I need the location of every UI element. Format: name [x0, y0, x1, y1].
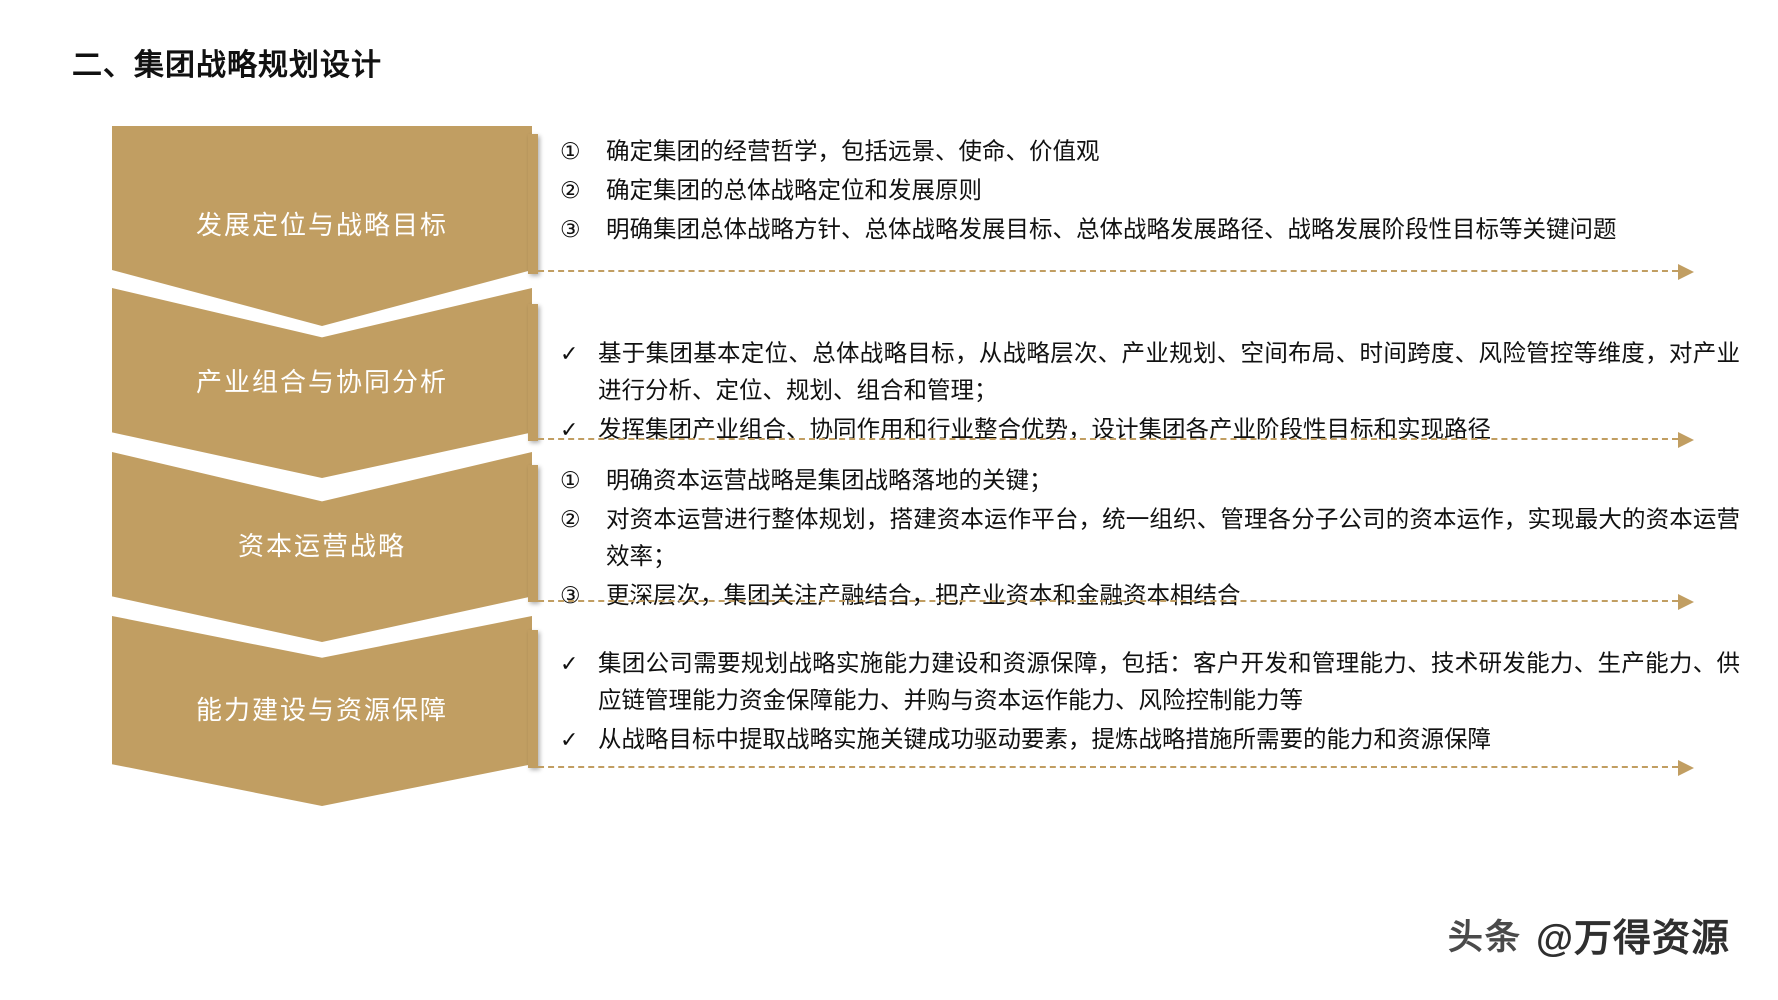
list-item: ② 对资本运营进行整体规划，搭建资本运作平台，统一组织、管理各分子公司的资本运作… [560, 501, 1740, 575]
accent-bar-4 [528, 630, 538, 768]
stage-divider-arrow-1 [528, 270, 1678, 274]
watermark-name: @万得资源 [1536, 907, 1730, 962]
stage-chevron-1[interactable]: 发展定位与战略目标 [112, 126, 532, 326]
bullet-text: 对资本运营进行整体规划，搭建资本运作平台，统一组织、管理各分子公司的资本运作，实… [606, 501, 1740, 575]
bullet-marker: ① [560, 462, 606, 499]
bullet-marker: ③ [560, 577, 606, 614]
bullet-marker: ② [560, 501, 606, 538]
bullet-text: 确定集团的总体战略定位和发展原则 [606, 172, 1740, 209]
stage-label-3: 资本运营战略 [238, 531, 406, 562]
list-item: ① 明确资本运营战略是集团战略落地的关键； [560, 462, 1740, 499]
check-icon: ✓ [560, 721, 598, 758]
stage-chevron-3[interactable]: 资本运营战略 [112, 452, 532, 642]
strategy-funnel-diagram: 发展定位与战略目标 ① 确定集团的经营哲学，包括远景、使命、价值观 ② 确定集团… [0, 0, 1778, 1000]
accent-bar-1 [528, 134, 538, 274]
list-item: ① 确定集团的经营哲学，包括远景、使命、价值观 [560, 133, 1740, 170]
stage-label-1: 发展定位与战略目标 [196, 210, 448, 241]
check-icon: ✓ [560, 411, 598, 448]
bullet-text: 明确集团总体战略方针、总体战略发展目标、总体战略发展路径、战略发展阶段性目标等关… [606, 211, 1740, 248]
accent-bar-3 [528, 465, 538, 602]
stage-bullets-1: ① 确定集团的经营哲学，包括远景、使命、价值观 ② 确定集团的总体战略定位和发展… [560, 133, 1740, 250]
stage-bullets-2: ✓ 基于集团基本定位、总体战略目标，从战略层次、产业规划、空间布局、时间跨度、风… [560, 335, 1740, 450]
list-item: ✓ 从战略目标中提取战略实施关键成功驱动要素，提炼战略措施所需要的能力和资源保障 [560, 721, 1740, 758]
bullet-text: 基于集团基本定位、总体战略目标，从战略层次、产业规划、空间布局、时间跨度、风险管… [598, 335, 1740, 409]
bullet-text: 明确资本运营战略是集团战略落地的关键； [606, 462, 1740, 499]
watermark: 头条 @万得资源 [1448, 907, 1730, 962]
stage-divider-arrow-3 [528, 600, 1678, 604]
bullet-marker: ② [560, 172, 606, 209]
bullet-text: 从战略目标中提取战略实施关键成功驱动要素，提炼战略措施所需要的能力和资源保障 [598, 721, 1740, 758]
list-item: ✓ 基于集团基本定位、总体战略目标，从战略层次、产业规划、空间布局、时间跨度、风… [560, 335, 1740, 409]
watermark-brand: 头条 [1448, 909, 1522, 960]
stage-label-4: 能力建设与资源保障 [196, 695, 448, 726]
stage-divider-arrow-4 [528, 766, 1678, 770]
list-item: ✓ 发挥集团产业组合、协同作用和行业整合优势，设计集团各产业阶段性目标和实现路径 [560, 411, 1740, 448]
bullet-text: 更深层次，集团关注产融结合，把产业资本和金融资本相结合 [606, 577, 1740, 614]
bullet-marker: ① [560, 133, 606, 170]
bullet-text: 集团公司需要规划战略实施能力建设和资源保障，包括：客户开发和管理能力、技术研发能… [598, 645, 1740, 719]
list-item: ② 确定集团的总体战略定位和发展原则 [560, 172, 1740, 209]
stage-label-2: 产业组合与协同分析 [196, 367, 448, 398]
bullet-text: 确定集团的经营哲学，包括远景、使命、价值观 [606, 133, 1740, 170]
stage-bullets-4: ✓ 集团公司需要规划战略实施能力建设和资源保障，包括：客户开发和管理能力、技术研… [560, 645, 1740, 760]
stage-chevron-4[interactable]: 能力建设与资源保障 [112, 616, 532, 806]
bullet-marker: ③ [560, 211, 606, 248]
check-icon: ✓ [560, 645, 598, 682]
accent-bar-2 [528, 304, 538, 441]
stage-bullets-3: ① 明确资本运营战略是集团战略落地的关键； ② 对资本运营进行整体规划，搭建资本… [560, 462, 1740, 616]
list-item: ③ 更深层次，集团关注产融结合，把产业资本和金融资本相结合 [560, 577, 1740, 614]
list-item: ✓ 集团公司需要规划战略实施能力建设和资源保障，包括：客户开发和管理能力、技术研… [560, 645, 1740, 719]
stage-divider-arrow-2 [528, 438, 1678, 442]
bullet-text: 发挥集团产业组合、协同作用和行业整合优势，设计集团各产业阶段性目标和实现路径 [598, 411, 1740, 448]
check-icon: ✓ [560, 335, 598, 372]
list-item: ③ 明确集团总体战略方针、总体战略发展目标、总体战略发展路径、战略发展阶段性目标… [560, 211, 1740, 248]
